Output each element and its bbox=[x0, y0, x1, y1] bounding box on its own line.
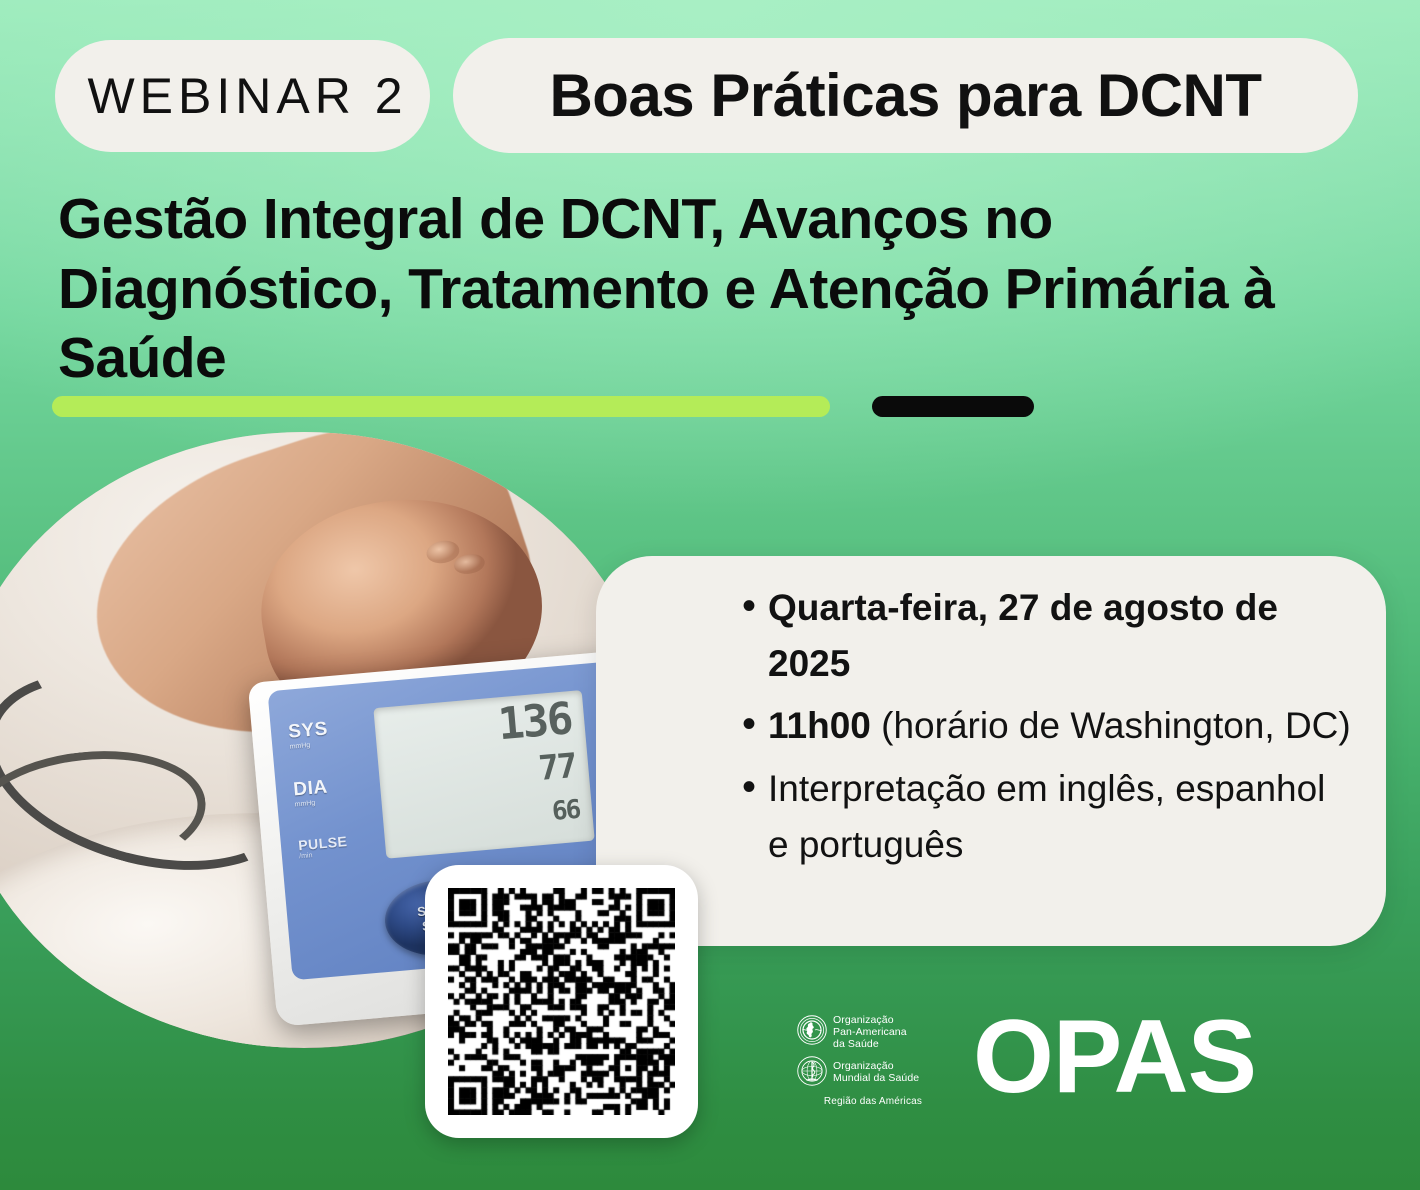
pulse-label: PULSE /min bbox=[298, 833, 349, 860]
list-item-text: 11h00 (horário de Washington, DC) bbox=[768, 698, 1352, 754]
list-item-rest: (horário de Washington, DC) bbox=[871, 705, 1351, 746]
paho-emblem-icon bbox=[797, 1015, 827, 1050]
sys-reading: 136 bbox=[496, 698, 573, 748]
webinar-number-label: WEBINAR 2 bbox=[87, 67, 407, 125]
paho-line1: Organização bbox=[833, 1014, 894, 1026]
webinar-number-badge: WEBINAR 2 bbox=[55, 40, 430, 152]
webinar-poster: WEBINAR 2 Boas Práticas para DCNT Gestão… bbox=[0, 0, 1420, 1190]
paho-line3: da Saúde bbox=[833, 1038, 879, 1050]
dia-unit: mmHg bbox=[294, 799, 329, 809]
sys-label: SYS mmHg bbox=[287, 719, 329, 751]
list-item-strong: 11h00 bbox=[768, 705, 871, 746]
list-item: • 11h00 (horário de Washington, DC) bbox=[742, 698, 1352, 754]
logo-tagline: Região das Américas bbox=[797, 1096, 949, 1107]
bullet-icon: • bbox=[742, 580, 768, 632]
bullet-icon: • bbox=[742, 761, 768, 813]
who-emblem-icon bbox=[797, 1056, 827, 1091]
pulse-reading: 66 bbox=[551, 797, 580, 825]
event-details-list: • Quarta-feira, 27 de agosto de 2025 • 1… bbox=[742, 580, 1352, 879]
theme-label: Boas Práticas para DCNT bbox=[549, 61, 1261, 130]
qr-code-icon[interactable] bbox=[448, 888, 675, 1115]
who-line2: Mundial da Saúde bbox=[833, 1072, 919, 1084]
list-item-text: Quarta-feira, 27 de agosto de 2025 bbox=[768, 580, 1352, 692]
who-line1: Organização bbox=[833, 1060, 894, 1072]
list-item: • Interpretação em inglês, espanhol e po… bbox=[742, 761, 1352, 873]
divider-bar-dark bbox=[872, 396, 1034, 417]
who-logo-text: Organização Mundial da Saúde bbox=[833, 1061, 919, 1085]
paho-line2: Pan-Americana bbox=[833, 1026, 907, 1038]
paho-logo-text: Organização Pan-Americana da Saúde bbox=[833, 1015, 907, 1051]
theme-badge: Boas Práticas para DCNT bbox=[453, 38, 1358, 153]
list-item-rest: Interpretação em inglês, espanhol e port… bbox=[768, 768, 1325, 865]
page-title: Gestão Integral de DCNT, Avanços no Diag… bbox=[58, 185, 1288, 394]
paho-logo: Organização Pan-Americana da Saúde bbox=[797, 1015, 957, 1125]
dia-reading: 77 bbox=[537, 749, 577, 786]
who-logo-row: Organização Mundial da Saúde bbox=[797, 1056, 957, 1091]
qr-code-card[interactable] bbox=[425, 865, 698, 1138]
paho-logo-row: Organização Pan-Americana da Saúde bbox=[797, 1015, 957, 1051]
opas-wordmark: OPAS bbox=[973, 1005, 1256, 1109]
dia-label: DIA mmHg bbox=[293, 777, 330, 809]
bullet-icon: • bbox=[742, 698, 768, 750]
divider-bar-lime bbox=[52, 396, 830, 417]
monitor-lcd-screen: 136 77 66 bbox=[374, 691, 595, 859]
list-item-strong: Quarta-feira, 27 de agosto de 2025 bbox=[768, 587, 1278, 684]
list-item-text: Interpretação em inglês, espanhol e port… bbox=[768, 761, 1352, 873]
list-item: • Quarta-feira, 27 de agosto de 2025 bbox=[742, 580, 1352, 692]
